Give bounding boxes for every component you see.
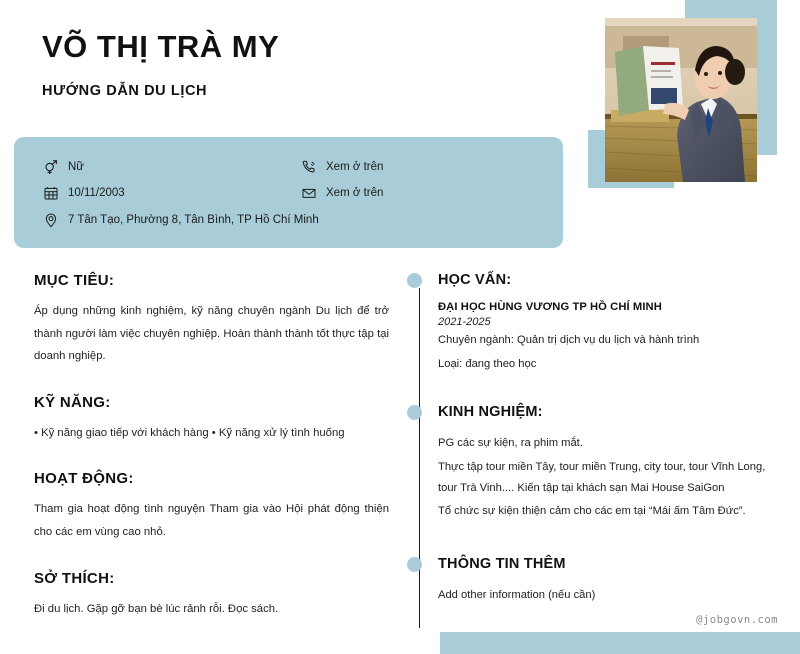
- section-education: HỌC VẤN: ĐẠI HỌC HÙNG VƯƠNG TP HỒ CHÍ MI…: [438, 272, 778, 374]
- job-title: HƯỚNG DẪN DU LỊCH: [42, 83, 207, 99]
- section-additional-info: THÔNG TIN THÊM Add other information (nế…: [438, 556, 778, 606]
- education-school: ĐẠI HỌC HÙNG VƯƠNG TP HỒ CHÍ MINH: [438, 301, 778, 313]
- section-hobbies: SỞ THÍCH: Đi du lịch. Gặp gỡ bạn bè lúc …: [34, 570, 389, 621]
- calendar-icon: [43, 185, 59, 201]
- education-status: Loại: đang theo học: [438, 355, 778, 375]
- timeline-dot-education: [407, 273, 422, 288]
- contact-gender-value: Nữ: [68, 161, 84, 173]
- objective-text: Áp dụng những kinh nghiệm, kỹ năng chuyê…: [34, 300, 389, 368]
- section-experience: KINH NGHIỆM: PG các sự kiện, ra phim mắt…: [438, 404, 778, 522]
- right-column: HỌC VẤN: ĐẠI HỌC HÙNG VƯƠNG TP HỒ CHÍ MI…: [438, 272, 778, 628]
- section-activities: HOẠT ĐỘNG: Tham gia hoạt động tình nguyệ…: [34, 470, 389, 543]
- experience-heading: KINH NGHIỆM:: [438, 404, 778, 420]
- timeline-dot-additional: [407, 557, 422, 572]
- cv-page: VÕ THỊ TRÀ MY HƯỚNG DẪN DU LỊCH Nữ: [0, 0, 800, 654]
- location-pin-icon: [43, 212, 59, 228]
- section-objective: MỤC TIÊU: Áp dụng những kinh nghiệm, kỹ …: [34, 272, 389, 368]
- section-skills: KỸ NĂNG: • Kỹ năng giao tiếp với khách h…: [34, 394, 389, 445]
- page-title: VÕ THỊ TRÀ MY: [42, 30, 279, 64]
- contact-address-value: 7 Tân Tạo, Phường 8, Tân Bình, TP Hồ Chí…: [68, 214, 319, 226]
- experience-line: Tổ chức sự kiện thiện cảm cho các em tại…: [438, 501, 778, 522]
- contact-phone: Xem ở trên: [301, 159, 383, 175]
- contact-panel: Nữ 10/11/2003 7 Tân Tạo,: [14, 137, 563, 248]
- column-divider: [419, 288, 420, 628]
- contact-address: 7 Tân Tạo, Phường 8, Tân Bình, TP Hồ Chí…: [43, 212, 319, 228]
- skills-text: • Kỹ năng giao tiếp với khách hàng • Kỹ …: [34, 422, 389, 445]
- additional-text: Add other information (nếu cần): [438, 586, 778, 606]
- additional-heading: THÔNG TIN THÊM: [438, 556, 778, 572]
- contact-email: Xem ở trên: [301, 185, 383, 201]
- hobbies-heading: SỞ THÍCH:: [34, 570, 389, 587]
- phone-icon: [301, 159, 317, 175]
- contact-birthdate: 10/11/2003: [43, 185, 125, 201]
- experience-line: PG các sự kiện, ra phim mắt.: [438, 433, 778, 454]
- contact-gender: Nữ: [43, 159, 84, 175]
- contact-phone-value: Xem ở trên: [326, 161, 383, 173]
- contact-birthdate-value: 10/11/2003: [68, 187, 125, 199]
- education-heading: HỌC VẤN:: [438, 272, 778, 288]
- activities-heading: HOẠT ĐỘNG:: [34, 470, 389, 487]
- watermark: @jobgovn.com: [696, 614, 778, 626]
- bottom-accent-bar: [440, 632, 800, 654]
- education-major: Chuyên ngành: Quản trị dịch vụ du lịch v…: [438, 331, 778, 351]
- envelope-icon: [301, 185, 317, 201]
- objective-heading: MỤC TIÊU:: [34, 272, 389, 289]
- profile-photo: [605, 18, 757, 182]
- left-column: MỤC TIÊU: Áp dụng những kinh nghiệm, kỹ …: [34, 272, 389, 646]
- hobbies-text: Đi du lịch. Gặp gỡ bạn bè lúc rảnh rỗi. …: [34, 598, 389, 621]
- skills-heading: KỸ NĂNG:: [34, 394, 389, 411]
- activities-text: Tham gia hoạt động tình nguyện Tham gia …: [34, 498, 389, 543]
- education-years: 2021-2025: [438, 316, 778, 328]
- gender-icon: [43, 159, 59, 175]
- contact-email-value: Xem ở trên: [326, 187, 383, 199]
- experience-line: Thực tập tour miền Tây, tour miền Trung,…: [438, 457, 778, 498]
